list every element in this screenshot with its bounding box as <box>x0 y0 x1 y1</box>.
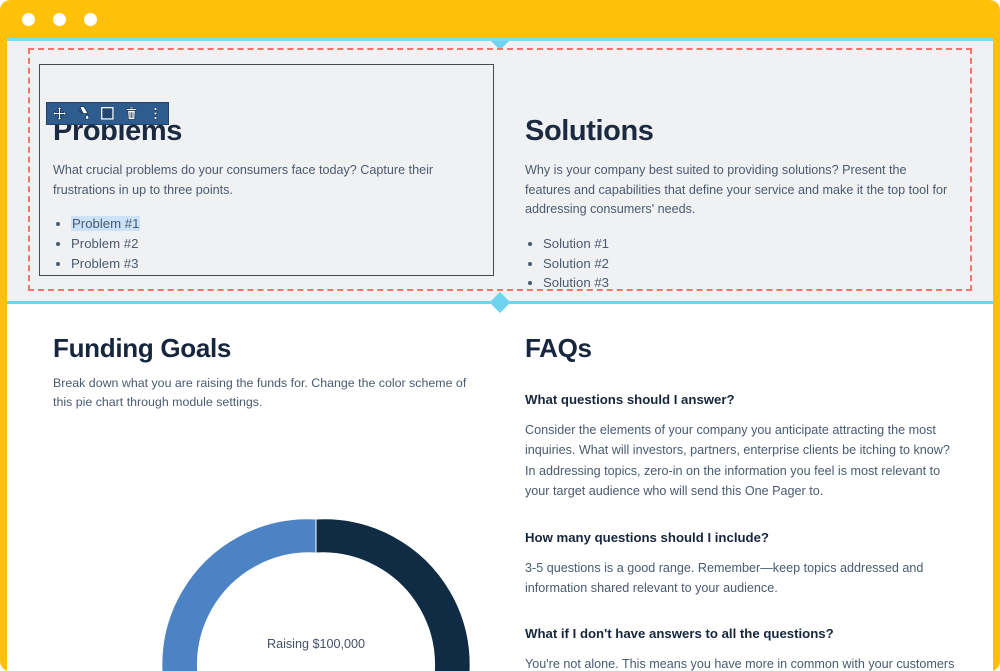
module-toolbar[interactable] <box>46 102 169 125</box>
trash-icon[interactable] <box>124 106 139 121</box>
window-frame-right <box>993 38 1000 671</box>
list-item[interactable]: Solution #3 <box>543 273 955 293</box>
minimize-dot[interactable] <box>53 13 66 26</box>
maximize-dot[interactable] <box>84 13 97 26</box>
solutions-title: Solutions <box>525 116 955 146</box>
add-section-above-icon[interactable] <box>491 41 509 50</box>
problems-item-2[interactable]: Problem #2 <box>71 236 138 251</box>
solutions-item-1[interactable]: Solution #1 <box>543 236 609 251</box>
module-faqs[interactable]: FAQs What questions should I answer? Con… <box>525 333 957 671</box>
browser-window: Problems What crucial problems do your c… <box>0 0 1000 671</box>
window-titlebar <box>0 0 1000 38</box>
list-item[interactable]: Problem #2 <box>71 234 483 254</box>
faq-question-2: How many questions should I include? <box>525 530 957 545</box>
window-frame-left <box>0 38 7 671</box>
solutions-list[interactable]: Solution #1 Solution #2 Solution #3 <box>525 234 955 293</box>
list-item[interactable]: Solution #1 <box>543 234 955 254</box>
section-expand-down-icon[interactable] <box>491 304 509 313</box>
funding-goals-donut-chart[interactable]: Raising $100,000 <box>103 438 529 671</box>
module-solutions[interactable]: Solutions Why is your company best suite… <box>525 116 955 293</box>
faq-question-1: What questions should I answer? <box>525 392 957 407</box>
faq-answer-1: Consider the elements of your company yo… <box>525 420 957 502</box>
problems-item-1[interactable]: Problem #1 <box>71 216 140 231</box>
faq-question-3: What if I don't have answers to all the … <box>525 626 957 641</box>
more-options-icon[interactable] <box>148 106 163 121</box>
solutions-item-3[interactable]: Solution #3 <box>543 275 609 290</box>
problems-list[interactable]: Problem #1 Problem #2 Problem #3 <box>53 214 483 273</box>
duplicate-icon[interactable] <box>100 106 115 121</box>
donut-center-label: Raising $100,000 <box>103 637 529 651</box>
solutions-body: Why is your company best suited to provi… <box>525 161 955 220</box>
move-icon[interactable] <box>52 106 67 121</box>
close-dot[interactable] <box>22 13 35 26</box>
module-problems[interactable]: Problems What crucial problems do your c… <box>53 116 483 273</box>
section-collapse-up-icon[interactable] <box>491 292 509 301</box>
faqs-title: FAQs <box>525 333 957 364</box>
faq-answer-2: 3-5 questions is a good range. Remember—… <box>525 558 957 599</box>
page-canvas: Problems What crucial problems do your c… <box>7 38 993 671</box>
funding-goals-subtitle: Break down what you are raising the fund… <box>53 374 485 412</box>
list-item[interactable]: Problem #1 <box>71 214 483 234</box>
problems-body: What crucial problems do your consumers … <box>53 161 483 200</box>
list-item[interactable]: Solution #2 <box>543 254 955 274</box>
paint-bucket-icon[interactable] <box>76 106 91 121</box>
faq-answer-3: You're not alone. This means you have mo… <box>525 654 957 671</box>
problems-item-3[interactable]: Problem #3 <box>71 256 138 271</box>
solutions-item-2[interactable]: Solution #2 <box>543 256 609 271</box>
list-item[interactable]: Problem #3 <box>71 254 483 274</box>
module-funding-goals[interactable]: Funding Goals Break down what you are ra… <box>53 333 485 671</box>
funding-goals-title: Funding Goals <box>53 333 485 364</box>
